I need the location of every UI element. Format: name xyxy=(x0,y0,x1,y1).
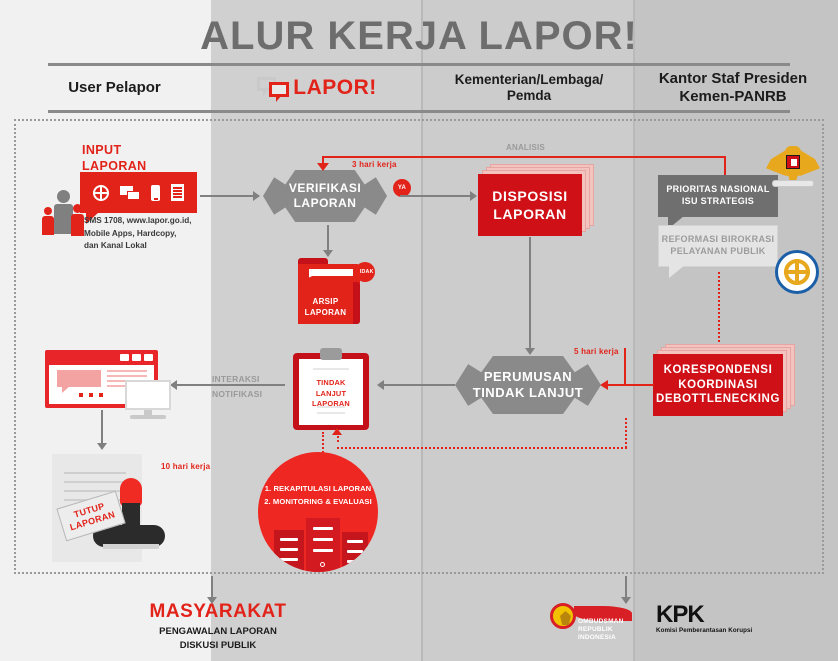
ombudsman-line1: OMBUDSMAN xyxy=(578,618,634,626)
header-rule-bottom xyxy=(48,110,790,113)
footer-masyarakat: MASYARAKAT PENGAWALAN LAPORAN DISKUSI PU… xyxy=(118,601,318,653)
lapor-wordmark: LAPOR! xyxy=(293,76,377,101)
connector-browser-to-tutup-laporan xyxy=(101,410,103,446)
masyarakat-sub-line1: PENGAWALAN LAPORAN xyxy=(118,625,318,639)
arrowhead-rekap-to-tindak-lanjut xyxy=(332,428,342,435)
arrowhead-perumusan-to-tindak-lanjut xyxy=(377,380,384,390)
arrowhead-disposisi-to-perumusan xyxy=(525,348,535,355)
arrowhead-verifikasi-to-arsip xyxy=(323,250,333,257)
ombudsman-line2: REPUBLIK INDONESIA xyxy=(578,626,634,642)
disposisi-line2: LAPORAN xyxy=(492,205,567,223)
perumusan-line2: TINDAK LANJUT xyxy=(473,385,584,401)
input-caption-line1: SMS 1708, www.lapor.go.id, xyxy=(84,215,206,228)
input-caption-line3: dan Kanal Lokal xyxy=(84,240,206,253)
column-header-ksp-line1: Kantor Staf Presiden xyxy=(659,70,807,88)
column-header-user-pelapor-label: User Pelapor xyxy=(68,79,161,97)
verifikasi-line1: VERIFIKASI xyxy=(289,181,361,196)
connector-korespondensi-to-perumusan xyxy=(606,384,654,386)
input-caption-line2: Mobile Apps, Hardcopy, xyxy=(84,228,206,241)
connector-disposisi-to-perumusan xyxy=(529,237,531,351)
tindak-lanjut-line2: LAPORAN xyxy=(301,399,361,410)
input-laporan-title-line1: INPUT xyxy=(82,143,147,159)
flow-label-5-hari-kerja: 5 hari kerja xyxy=(574,347,619,356)
ship-wheel-icon xyxy=(784,259,810,285)
node-disposisi-laporan: DISPOSISI LAPORAN xyxy=(478,174,582,236)
column-header-kementerian-line2: Pemda xyxy=(455,88,604,104)
connector-perumusan-to-tindak-lanjut xyxy=(380,384,455,386)
kpk-full-name: Komisi Pemberantasan Korupsi xyxy=(656,627,752,634)
reformasi-line1: REFORMASI BIROKRASI xyxy=(662,234,775,246)
kpk-logo: KPK Komisi Pemberantasan Korupsi xyxy=(656,601,752,634)
connector-input-to-verifikasi xyxy=(200,195,255,197)
masyarakat-title: MASYARAKAT xyxy=(118,601,318,623)
node-korespondensi-koordinasi: KORESPONDENSI KOORDINASI DEBOTTLENECKING xyxy=(653,354,783,416)
perumusan-line1: PERUMUSAN xyxy=(473,369,584,385)
desktop-monitor-icon xyxy=(125,380,171,420)
flow-label-interaksi: INTERAKSI xyxy=(212,374,260,384)
column-header-ksp-line2: Kemen-PANRB xyxy=(659,88,807,106)
input-laporan-title: INPUT LAPORAN xyxy=(82,143,147,174)
connector-rekap-feedback-horizontal xyxy=(337,447,627,449)
node-reformasi-birokrasi: REFORMASI BIROKRASI PELAYANAN PUBLIK xyxy=(658,225,778,267)
flow-label-3-hari-kerja: 3 hari kerja xyxy=(352,160,397,169)
input-channels-caption: SMS 1708, www.lapor.go.id, Mobile Apps, … xyxy=(84,215,206,253)
connector-tindak-lanjut-to-browser xyxy=(173,384,285,386)
korespondensi-line3: DEBOTTLENECKING xyxy=(656,392,780,407)
connector-rekap-feedback-vertical xyxy=(625,418,627,448)
node-tindak-lanjut-laporan: TINDAK LANJUT LAPORAN xyxy=(293,348,369,430)
node-prioritas-nasional: PRIORITAS NASIONAL ISU STRATEGIS xyxy=(658,175,778,217)
page-title: ALUR KERJA LAPOR! xyxy=(0,14,838,59)
chat-bubbles-icon xyxy=(257,75,291,101)
column-header-lapor: LAPOR! xyxy=(211,66,423,110)
node-arsip-laporan: ARSIP LAPORAN xyxy=(298,258,360,324)
flow-label-analisis: ANALISIS xyxy=(506,143,545,152)
clipboard-clip-icon xyxy=(320,348,342,360)
ombudsman-logo: OMBUDSMAN REPUBLIK INDONESIA xyxy=(540,598,634,636)
arrowhead-verifikasi-to-disposisi xyxy=(470,191,477,201)
disposisi-line1: DISPOSISI xyxy=(492,187,567,205)
rekap-line1: 1. REKAPITULASI LAPORAN xyxy=(264,483,372,496)
garuda-pancasila-emblem xyxy=(766,146,820,190)
arrowhead-analisis-down xyxy=(317,163,329,171)
verifikasi-line2: LAPORAN xyxy=(289,196,361,211)
filing-cabinet-icon-right xyxy=(342,532,368,572)
kpk-abbr: KPK xyxy=(656,601,752,629)
arrowhead-tindak-lanjut-to-browser xyxy=(170,380,177,390)
chat-icon xyxy=(120,186,140,200)
connector-verifikasi-to-arsip xyxy=(327,225,329,253)
globe-icon xyxy=(93,185,109,201)
rekap-line2: 2. MONITORING & EVALUASI xyxy=(264,496,372,509)
reformasi-line2: PELAYANAN PUBLIK xyxy=(662,246,775,258)
connector-5hari-vertical xyxy=(624,348,626,384)
column-header-kementerian-line1: Kementerian/Lembaga/ xyxy=(455,72,604,88)
filing-cabinet-icon-left xyxy=(274,530,304,572)
arrowhead-korespondensi-to-perumusan xyxy=(600,380,608,390)
garuda-shield-icon xyxy=(550,603,576,629)
column-header-ksp: Kantor Staf Presiden Kemen-PANRB xyxy=(635,66,831,110)
korespondensi-line1: KORESPONDENSI xyxy=(656,363,780,378)
connector-ksp-vertical-dotted xyxy=(718,272,720,350)
connector-verifikasi-to-disposisi xyxy=(400,195,472,197)
footer-logos: OMBUDSMAN REPUBLIK INDONESIA KPK Komisi … xyxy=(540,598,752,636)
citizens-figure-icon xyxy=(40,190,84,234)
prioritas-line1: PRIORITAS NASIONAL xyxy=(666,184,769,196)
node-rekapitulasi-monitoring: 1. REKAPITULASI LAPORAN 2. MONITORING & … xyxy=(258,452,378,572)
arrowhead-browser-to-tutup-laporan xyxy=(97,443,107,450)
input-channels-bubble xyxy=(80,172,197,213)
column-header-user-pelapor: User Pelapor xyxy=(18,66,211,110)
column-header-kementerian: Kementerian/Lembaga/ Pemda xyxy=(423,66,635,110)
infographic-canvas: ALUR KERJA LAPOR! User Pelapor LAPOR! Ke… xyxy=(0,0,838,661)
arsip-line2: LAPORAN xyxy=(305,308,347,318)
prioritas-line2: ISU STRATEGIS xyxy=(666,196,769,208)
arsip-line1: ARSIP xyxy=(305,297,347,307)
document-icon xyxy=(171,184,184,201)
filing-cabinet-icon-center xyxy=(306,518,340,572)
flow-label-notifikasi: NOTIFIKASI xyxy=(212,389,262,399)
kemenpanrb-emblem xyxy=(775,250,819,294)
mobile-phone-icon xyxy=(151,185,160,201)
korespondensi-line2: KOORDINASI xyxy=(656,378,780,393)
masyarakat-sub-line2: DISKUSI PUBLIK xyxy=(118,639,318,653)
connector-analisis-horizontal xyxy=(322,156,726,158)
flow-label-10-hari-kerja: 10 hari kerja xyxy=(161,462,210,471)
tindak-lanjut-line1: TINDAK LANJUT xyxy=(301,378,361,399)
arrowhead-input-to-verifikasi xyxy=(253,191,260,201)
lapor-logo: LAPOR! xyxy=(257,75,377,101)
